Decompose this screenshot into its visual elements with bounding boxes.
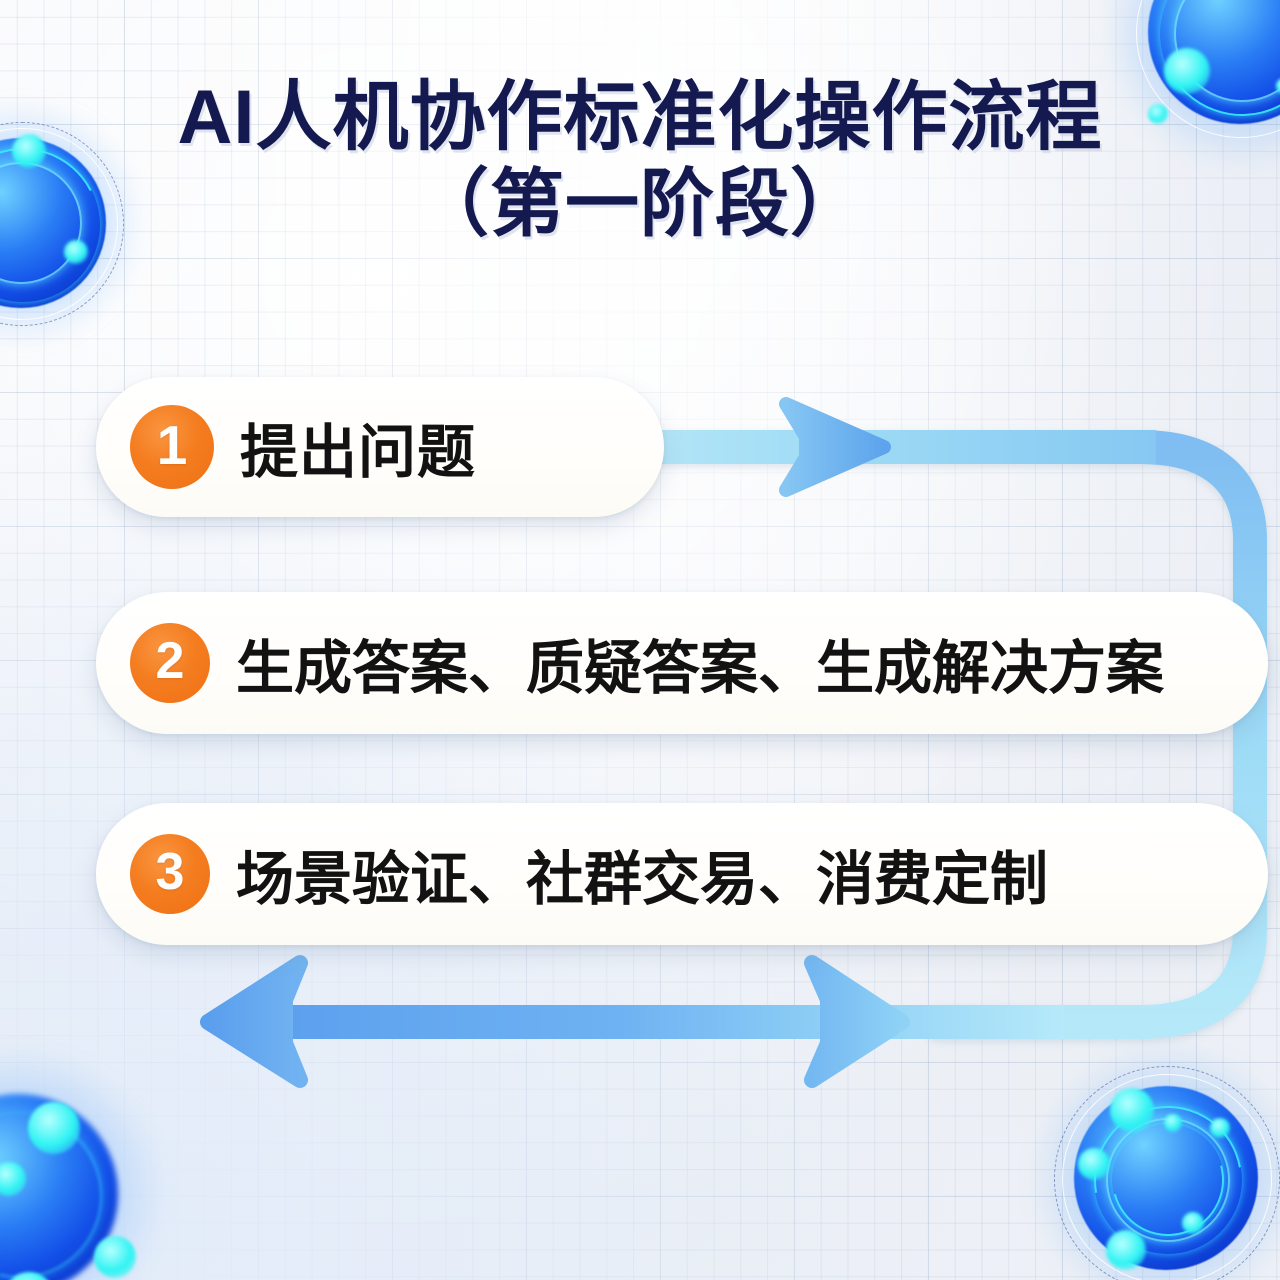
step-item-1[interactable]: 1 提出问题 [96,377,664,517]
step-number-badge-3: 3 [130,834,210,914]
step-item-3[interactable]: 3 场景验证、社群交易、消费定制 [96,803,1268,945]
step-number-badge-1: 1 [130,405,214,489]
step-number-badge-2: 2 [130,623,210,703]
step-label-3: 场景验证、社群交易、消费定制 [236,832,1048,916]
forward-arrow-head [786,404,884,490]
poster-title-sub: （第一阶段） [0,165,1280,243]
bidirectional-arrow-head-left [208,963,300,1080]
poster-title-main: AI人机协作标准化操作流程 [0,78,1280,159]
bidirectional-arrow-band [258,1005,1064,1039]
step-item-2[interactable]: 2 生成答案、质疑答案、生成解决方案 [96,592,1268,734]
poster-canvas: AI人机协作标准化操作流程 （第一阶段） [0,0,1280,1280]
step-label-2: 生成答案、质疑答案、生成解决方案 [236,621,1164,705]
step-label-1: 提出问题 [240,405,476,489]
bidirectional-arrow-head-right [812,963,902,1080]
poster-title-block: AI人机协作标准化操作流程 （第一阶段） [0,78,1280,243]
